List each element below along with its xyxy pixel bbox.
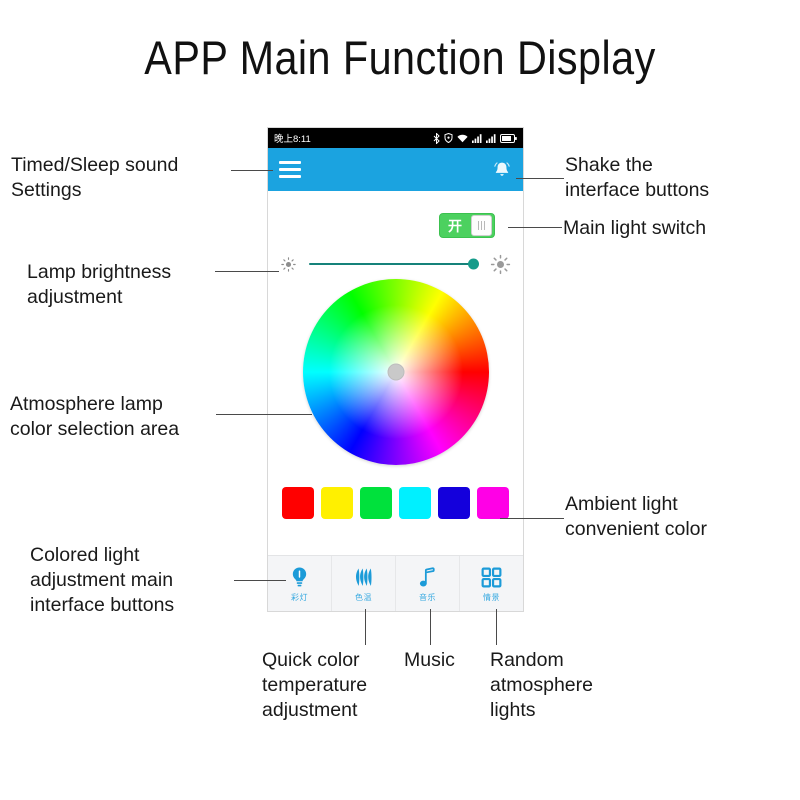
- leader-atmosphere-lamp: [216, 414, 312, 415]
- leader-shake-interface: [516, 178, 564, 179]
- shake-bell-icon[interactable]: [492, 160, 512, 180]
- grid-icon: [479, 565, 504, 590]
- brightness-slider-handle[interactable]: [468, 259, 479, 270]
- leader-music: [430, 609, 431, 645]
- nav-label-colored-light: 彩灯: [291, 592, 308, 603]
- shield-icon: [444, 133, 453, 143]
- swatch-magenta[interactable]: [477, 487, 509, 519]
- bluetooth-icon: [433, 133, 440, 144]
- brightness-row: [268, 251, 523, 277]
- swatch-red[interactable]: [282, 487, 314, 519]
- hamburger-menu-icon[interactable]: [279, 161, 301, 179]
- swatch-cyan[interactable]: [399, 487, 431, 519]
- leader-main-light-switch: [508, 227, 562, 228]
- battery-icon: [500, 134, 517, 143]
- atmosphere-color-wheel[interactable]: [303, 279, 489, 465]
- brightness-low-icon: [280, 256, 297, 273]
- poster-root: APP Main Function Display 晚上8:11: [0, 0, 800, 800]
- leader-colored-light: [234, 580, 286, 581]
- color-wheel-picker[interactable]: [387, 364, 404, 381]
- annotation-music: Music: [404, 648, 484, 673]
- annotation-timed-sleep: Timed/Sleep sound Settings: [11, 153, 236, 203]
- bulb-icon: [287, 565, 312, 590]
- app-bar: [268, 148, 523, 191]
- nav-label-color-temperature: 色温: [355, 592, 372, 603]
- nav-item-music[interactable]: 音乐: [396, 556, 460, 611]
- wifi-icon: [457, 134, 468, 143]
- status-bar-time: 晚上8:11: [274, 131, 311, 145]
- annotation-main-light-switch: Main light switch: [563, 216, 793, 241]
- annotation-lamp-brightness: Lamp brightness adjustment: [27, 260, 237, 310]
- swatch-green[interactable]: [360, 487, 392, 519]
- flame-icon: [351, 565, 376, 590]
- nav-item-scene[interactable]: 情景: [460, 556, 523, 611]
- leader-timed-sleep: [231, 170, 273, 171]
- leader-quick-color-temperature: [365, 609, 366, 645]
- status-bar-icons: [433, 133, 517, 144]
- signal-icon: [472, 134, 482, 143]
- leader-lamp-brightness: [215, 271, 279, 272]
- leader-ambient-light: [500, 518, 564, 519]
- app-content: 开: [268, 191, 523, 611]
- brightness-high-icon: [490, 254, 511, 275]
- music-note-icon: [415, 565, 440, 590]
- main-switch-row: 开: [268, 213, 523, 238]
- nav-item-color-temperature[interactable]: 色温: [332, 556, 396, 611]
- annotation-ambient-light: Ambient light convenient color: [565, 492, 795, 542]
- nav-label-scene: 情景: [483, 592, 500, 603]
- swatch-blue[interactable]: [438, 487, 470, 519]
- color-swatch-row: [268, 487, 523, 519]
- nav-item-colored-light[interactable]: 彩灯: [268, 556, 332, 611]
- page-title: APP Main Function Display: [48, 30, 752, 85]
- annotation-random-atmosphere: Random atmosphere lights: [490, 648, 635, 723]
- annotation-atmosphere-lamp: Atmosphere lamp color selection area: [10, 392, 250, 442]
- annotation-colored-light: Colored light adjustment main interface …: [30, 543, 245, 618]
- status-bar: 晚上8:11: [268, 128, 523, 148]
- main-switch-label: 开: [442, 219, 462, 233]
- nav-label-music: 音乐: [419, 592, 436, 603]
- swatch-yellow[interactable]: [321, 487, 353, 519]
- main-switch-knob[interactable]: [471, 215, 492, 236]
- annotation-shake-interface: Shake the interface buttons: [565, 153, 795, 203]
- main-light-switch[interactable]: 开: [439, 213, 495, 238]
- phone-mockup: 晚上8:11 开: [268, 128, 523, 611]
- leader-random-atmosphere: [496, 609, 497, 645]
- signal-icon: [486, 134, 496, 143]
- brightness-slider[interactable]: [309, 263, 478, 266]
- annotation-quick-color-temperature: Quick color temperature adjustment: [262, 648, 412, 723]
- bottom-nav-bar: 彩灯 色温: [268, 555, 523, 611]
- color-wheel-area: [268, 279, 523, 465]
